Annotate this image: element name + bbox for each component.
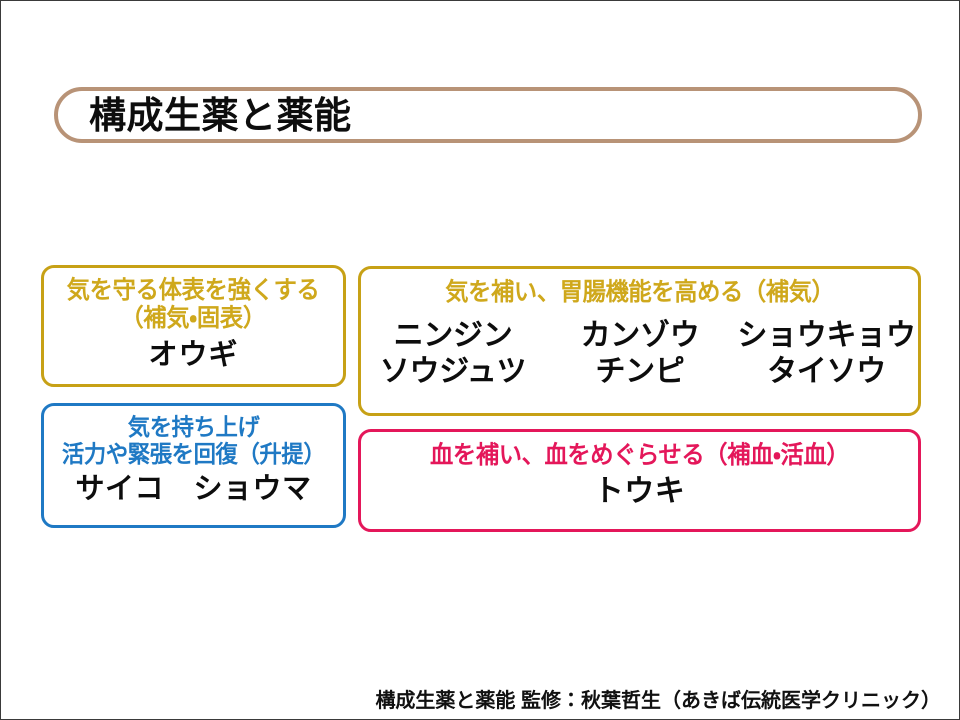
card-shotei: 気を持ち上げ 活力や緊張を回復（升提） サイコ ショウマ	[41, 403, 346, 528]
herb-item: ソウジュツ	[358, 355, 548, 389]
card-hoki-kohyo: 気を守る体表を強くする （補気・固表） オウギ	[41, 265, 346, 387]
card-hoki-heading: 気を補い、胃腸機能を高める（補気）	[445, 279, 834, 307]
card-hoketsu-kakketsu-herbs: トウキ	[594, 475, 686, 509]
footer-credit: 構成生薬と薬能 監修：秋葉哲生（あきば伝統医学クリニック）	[1, 683, 941, 713]
herb-item: チンピ	[548, 355, 732, 389]
herb-item: カンゾウ	[548, 319, 732, 353]
card-shotei-herbs: サイコ ショウマ	[75, 473, 311, 505]
herb-item: タイソウ	[732, 355, 921, 389]
card-shotei-heading: 気を持ち上げ 活力や緊張を回復（升提）	[62, 414, 325, 468]
herb-item: ショウキョウ	[732, 319, 921, 353]
slide-canvas: 構成生薬と薬能 気を守る体表を強くする （補気・固表） オウギ 気を補い、胃腸機…	[0, 0, 960, 720]
card-hoketsu-kakketsu-heading: 血を補い、血をめぐらせる（補血・活血）	[430, 442, 849, 470]
card-hoki-kohyo-herbs: オウギ	[148, 339, 238, 371]
card-hoki-herb-grid: ニンジン カンゾウ ショウキョウ ソウジュツ チンピ タイソウ	[358, 319, 921, 389]
card-hoki-kohyo-heading: 気を守る体表を強くする （補気・固表）	[67, 277, 320, 333]
card-hoketsu-kakketsu: 血を補い、血をめぐらせる（補血・活血） トウキ	[358, 429, 921, 532]
herb-item: ニンジン	[358, 319, 548, 353]
page-title: 構成生薬と薬能	[89, 87, 849, 143]
card-hoki: 気を補い、胃腸機能を高める（補気） ニンジン カンゾウ ショウキョウ ソウジュツ…	[358, 266, 921, 416]
